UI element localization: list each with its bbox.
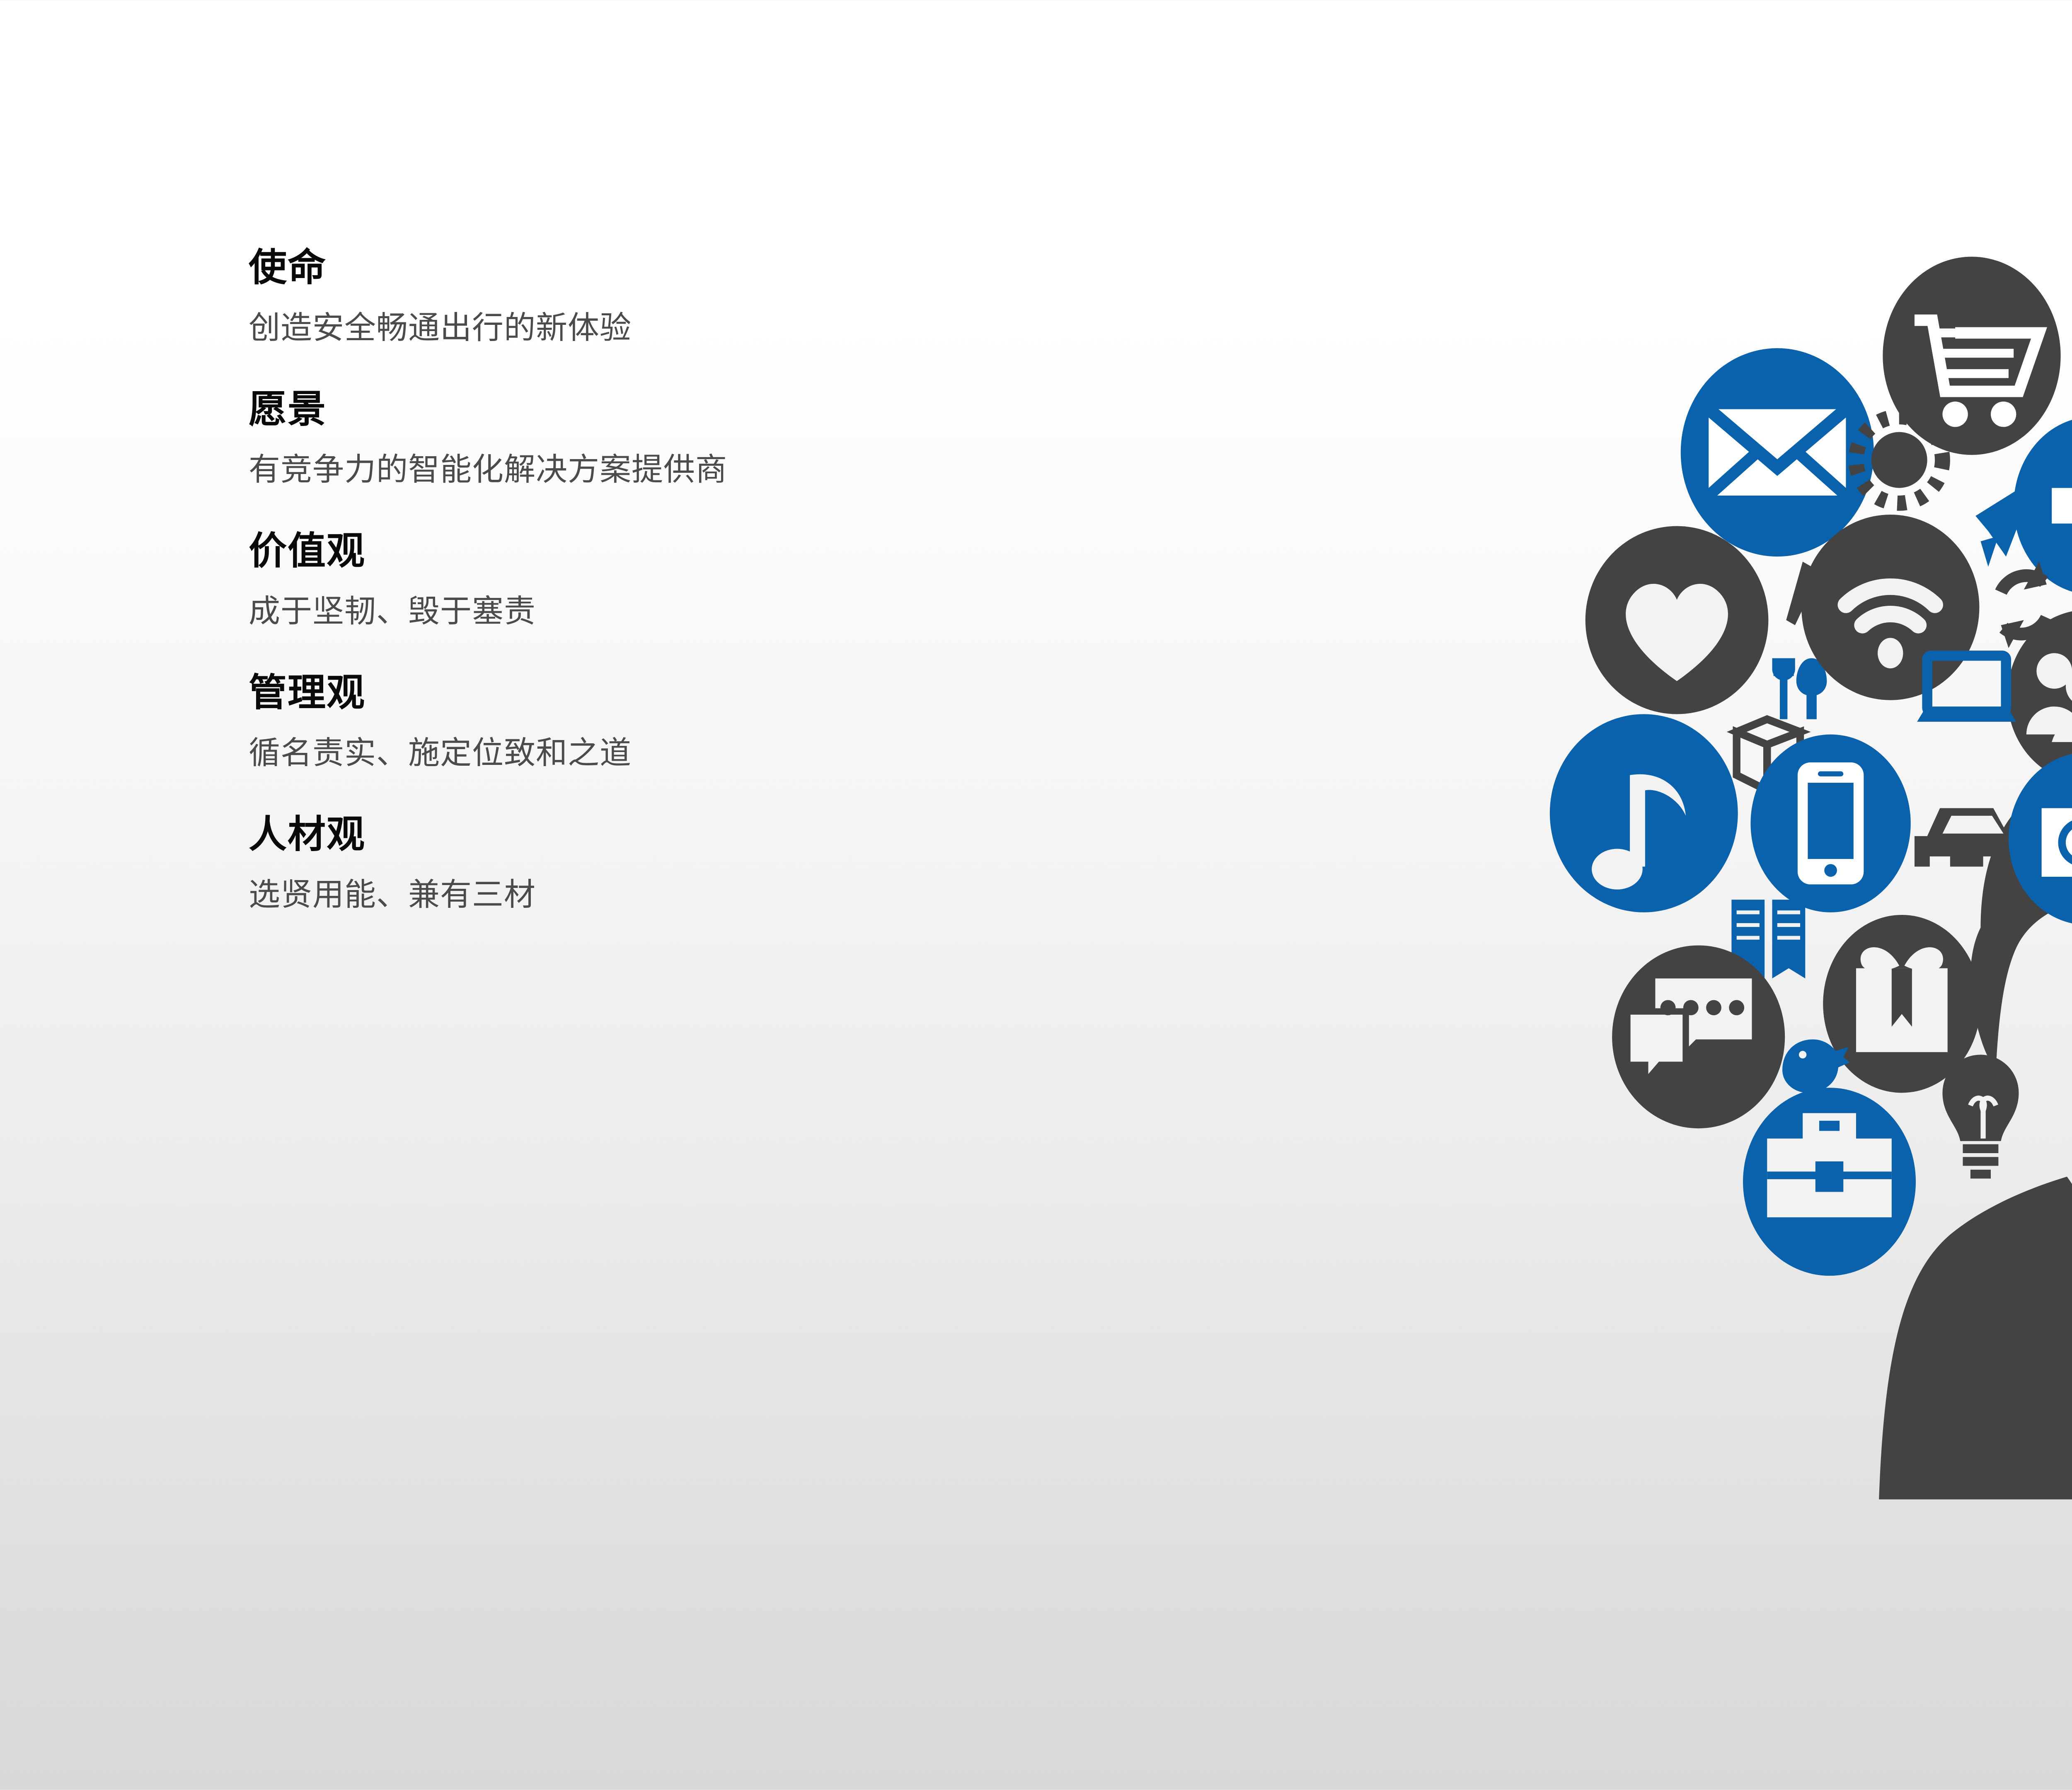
value-block-mission: 使命 创造安全畅通出行的新体验 — [249, 249, 1326, 344]
value-description: 创造安全畅通出行的新体验 — [249, 312, 1326, 344]
cutlery-icon — [1772, 658, 1827, 719]
icon-cloud — [1550, 253, 2072, 1321]
briefcase-icon — [1743, 1088, 1916, 1276]
value-title: 人材观 — [249, 815, 1326, 854]
person-icon-cloud-illustration — [1533, 215, 2072, 1500]
lightbulb-icon — [1942, 1055, 2019, 1174]
laptop-icon — [1917, 656, 2016, 721]
value-title: 愿景 — [249, 390, 1326, 428]
values-list: 使命 创造安全畅通出行的新体验 愿景 有竞争力的智能化解决方案提供商 价值观 成… — [249, 249, 1326, 911]
value-title: 价值观 — [249, 532, 1326, 570]
slide-canvas: 使命 创造安全畅通出行的新体验 愿景 有竞争力的智能化解决方案提供商 价值观 成… — [0, 0, 2072, 1790]
heart-icon — [1585, 526, 1769, 714]
value-block-core-values: 价值观 成于坚韧、毁于塞责 — [249, 532, 1326, 627]
speaker-icon — [2014, 417, 2072, 595]
smartphone-icon — [1750, 735, 1910, 912]
value-title: 管理观 — [249, 674, 1326, 712]
shopping-cart-icon — [1883, 256, 2060, 455]
mail-icon — [1681, 348, 1874, 556]
value-block-vision: 愿景 有竞争力的智能化解决方案提供商 — [249, 390, 1326, 486]
music-note-icon — [1550, 714, 1738, 912]
value-title: 使命 — [249, 249, 1326, 287]
value-description: 循名责实、施定位致和之道 — [249, 738, 1326, 769]
value-description: 选贤用能、兼有三材 — [249, 879, 1326, 911]
value-block-management: 管理观 循名责实、施定位致和之道 — [249, 674, 1326, 769]
value-description: 有竞争力的智能化解决方案提供商 — [249, 454, 1326, 486]
value-block-talent: 人材观 选贤用能、兼有三材 — [249, 815, 1326, 911]
wifi-circle-icon — [1801, 515, 1979, 700]
comments-icon — [1612, 946, 1785, 1129]
value-description: 成于坚韧、毁于塞责 — [249, 596, 1326, 627]
